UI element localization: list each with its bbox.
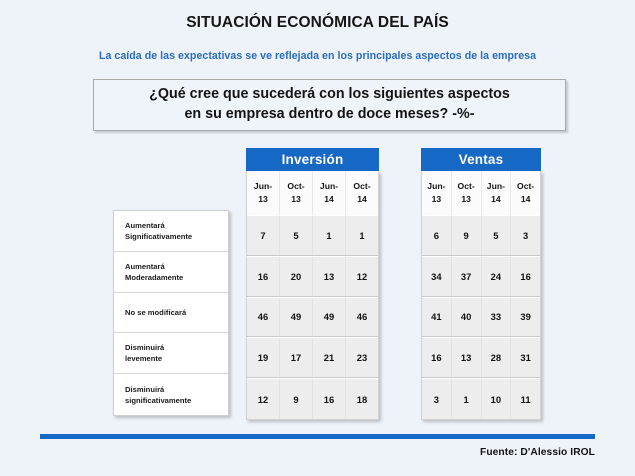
data-cell: 17 xyxy=(280,338,313,377)
data-cell: 1 xyxy=(346,216,378,255)
data-cell: 13 xyxy=(313,257,346,296)
data-cell: 46 xyxy=(346,298,378,337)
row-label-line-2: significativamente xyxy=(125,396,191,405)
row-label-line-2: Significativamente xyxy=(125,232,192,241)
table-inversion: Inversión Jun- 13 Oct- 13 Jun- 14 Oct- 1… xyxy=(246,148,379,420)
data-cell: 46 xyxy=(247,298,280,337)
data-cell: 12 xyxy=(346,257,378,296)
period-header-cell: Jun- 13 xyxy=(247,171,280,215)
data-cell: 6 xyxy=(422,216,452,255)
data-cell: 21 xyxy=(313,338,346,377)
data-cell: 49 xyxy=(313,298,346,337)
table-body-inversion: Jun- 13 Oct- 13 Jun- 14 Oct- 14 7 5 1 1 … xyxy=(246,171,379,420)
data-cell: 31 xyxy=(511,338,540,377)
data-cell: 5 xyxy=(280,216,313,255)
period-top: Jun- xyxy=(254,180,272,193)
data-cell: 11 xyxy=(511,379,540,419)
question-line-1: ¿Qué cree que sucederá con los siguiente… xyxy=(149,86,510,102)
period-header-cell: Oct- 13 xyxy=(452,171,482,215)
table-title-inversion: Inversión xyxy=(246,148,379,171)
table-row: 46 49 49 46 xyxy=(247,297,378,338)
period-top: Jun- xyxy=(487,180,505,193)
period-header-cell: Oct- 14 xyxy=(346,171,378,215)
page-title: SITUACIÓN ECONÓMICA DEL PAÍS xyxy=(0,14,635,32)
table-row: 7 5 1 1 xyxy=(247,215,378,256)
period-bottom: 13 xyxy=(432,193,442,206)
period-top: Oct- xyxy=(287,180,304,193)
data-cell: 49 xyxy=(280,298,313,337)
period-header-cell: Jun- 13 xyxy=(422,171,452,215)
data-cell: 34 xyxy=(422,257,452,296)
data-cell: 28 xyxy=(482,338,512,377)
data-cell: 24 xyxy=(482,257,512,296)
row-label-line-1: No se modificará xyxy=(125,308,186,317)
table-title-ventas: Ventas xyxy=(421,148,541,171)
table-row: 12 9 16 18 xyxy=(247,378,378,419)
row-label: No se modificará xyxy=(114,293,228,334)
data-cell: 1 xyxy=(313,216,346,255)
question-line-2: en su empresa dentro de doce meses? -%- xyxy=(184,106,474,122)
period-bottom: 14 xyxy=(357,193,367,206)
data-cell: 16 xyxy=(247,257,280,296)
data-cell: 1 xyxy=(452,379,482,419)
row-label: Disminuirá levemente xyxy=(114,333,228,374)
data-cell: 19 xyxy=(247,338,280,377)
question-text: ¿Qué cree que sucederá con los siguiente… xyxy=(139,85,520,124)
table-row: 6 9 5 3 xyxy=(422,215,540,256)
question-box: ¿Qué cree que sucederá con los siguiente… xyxy=(93,79,566,131)
period-bottom: 14 xyxy=(491,193,501,206)
row-label-line-2: levemente xyxy=(125,354,162,363)
data-cell: 41 xyxy=(422,298,452,337)
data-cell: 3 xyxy=(422,379,452,419)
period-top: Oct- xyxy=(458,180,475,193)
table-ventas: Ventas Jun- 13 Oct- 13 Jun- 14 Oct- 14 6… xyxy=(421,148,541,420)
row-label-column: Aumentará Significativamente Aumentará M… xyxy=(113,210,229,416)
data-cell: 7 xyxy=(247,216,280,255)
table-row: 41 40 33 39 xyxy=(422,297,540,338)
table-row: 16 20 13 12 xyxy=(247,256,378,297)
period-top: Jun- xyxy=(320,180,338,193)
data-cell: 33 xyxy=(482,298,512,337)
period-top: Oct- xyxy=(353,180,370,193)
period-header-cell: Jun- 14 xyxy=(482,171,512,215)
page-subtitle: La caída de las expectativas se ve refle… xyxy=(0,50,635,62)
period-bottom: 13 xyxy=(291,193,301,206)
row-label-line-1: Aumentará xyxy=(125,221,165,230)
data-cell: 3 xyxy=(511,216,540,255)
data-cell: 23 xyxy=(346,338,378,377)
period-bottom: 13 xyxy=(258,193,268,206)
data-cell: 5 xyxy=(482,216,512,255)
data-cell: 16 xyxy=(313,379,346,419)
data-cell: 10 xyxy=(482,379,512,419)
period-header-cell: Oct- 13 xyxy=(280,171,313,215)
row-label: Disminuirá significativamente xyxy=(114,374,228,415)
period-top: Oct- xyxy=(517,180,534,193)
footer-divider xyxy=(40,434,595,439)
period-header-row: Jun- 13 Oct- 13 Jun- 14 Oct- 14 xyxy=(422,171,540,215)
data-cell: 40 xyxy=(452,298,482,337)
row-label: Aumentará Significativamente xyxy=(114,211,228,252)
period-header-cell: Oct- 14 xyxy=(511,171,540,215)
table-row: 16 13 28 31 xyxy=(422,337,540,378)
row-label-line-1: Disminuirá xyxy=(125,343,164,352)
data-cell: 16 xyxy=(511,257,540,296)
period-header-row: Jun- 13 Oct- 13 Jun- 14 Oct- 14 xyxy=(247,171,378,215)
data-cell: 16 xyxy=(422,338,452,377)
period-bottom: 14 xyxy=(324,193,334,206)
period-bottom: 14 xyxy=(521,193,531,206)
table-row: 19 17 21 23 xyxy=(247,337,378,378)
data-cell: 37 xyxy=(452,257,482,296)
data-cell: 20 xyxy=(280,257,313,296)
data-cell: 9 xyxy=(452,216,482,255)
period-header-cell: Jun- 14 xyxy=(313,171,346,215)
data-cell: 39 xyxy=(511,298,540,337)
row-label-line-2: Moderadamente xyxy=(125,273,183,282)
data-cell: 13 xyxy=(452,338,482,377)
table-row: 34 37 24 16 xyxy=(422,256,540,297)
table-body-ventas: Jun- 13 Oct- 13 Jun- 14 Oct- 14 6 9 5 3 … xyxy=(421,171,541,420)
period-bottom: 13 xyxy=(461,193,471,206)
footer-source: Fuente: D'Alessio IROL xyxy=(480,447,595,458)
data-cell: 12 xyxy=(247,379,280,419)
period-top: Jun- xyxy=(427,180,445,193)
table-row: 3 1 10 11 xyxy=(422,378,540,419)
row-label-line-1: Aumentará xyxy=(125,262,165,271)
data-cell: 18 xyxy=(346,379,378,419)
row-label-line-1: Disminuirá xyxy=(125,385,164,394)
row-label: Aumentará Moderadamente xyxy=(114,252,228,293)
data-cell: 9 xyxy=(280,379,313,419)
